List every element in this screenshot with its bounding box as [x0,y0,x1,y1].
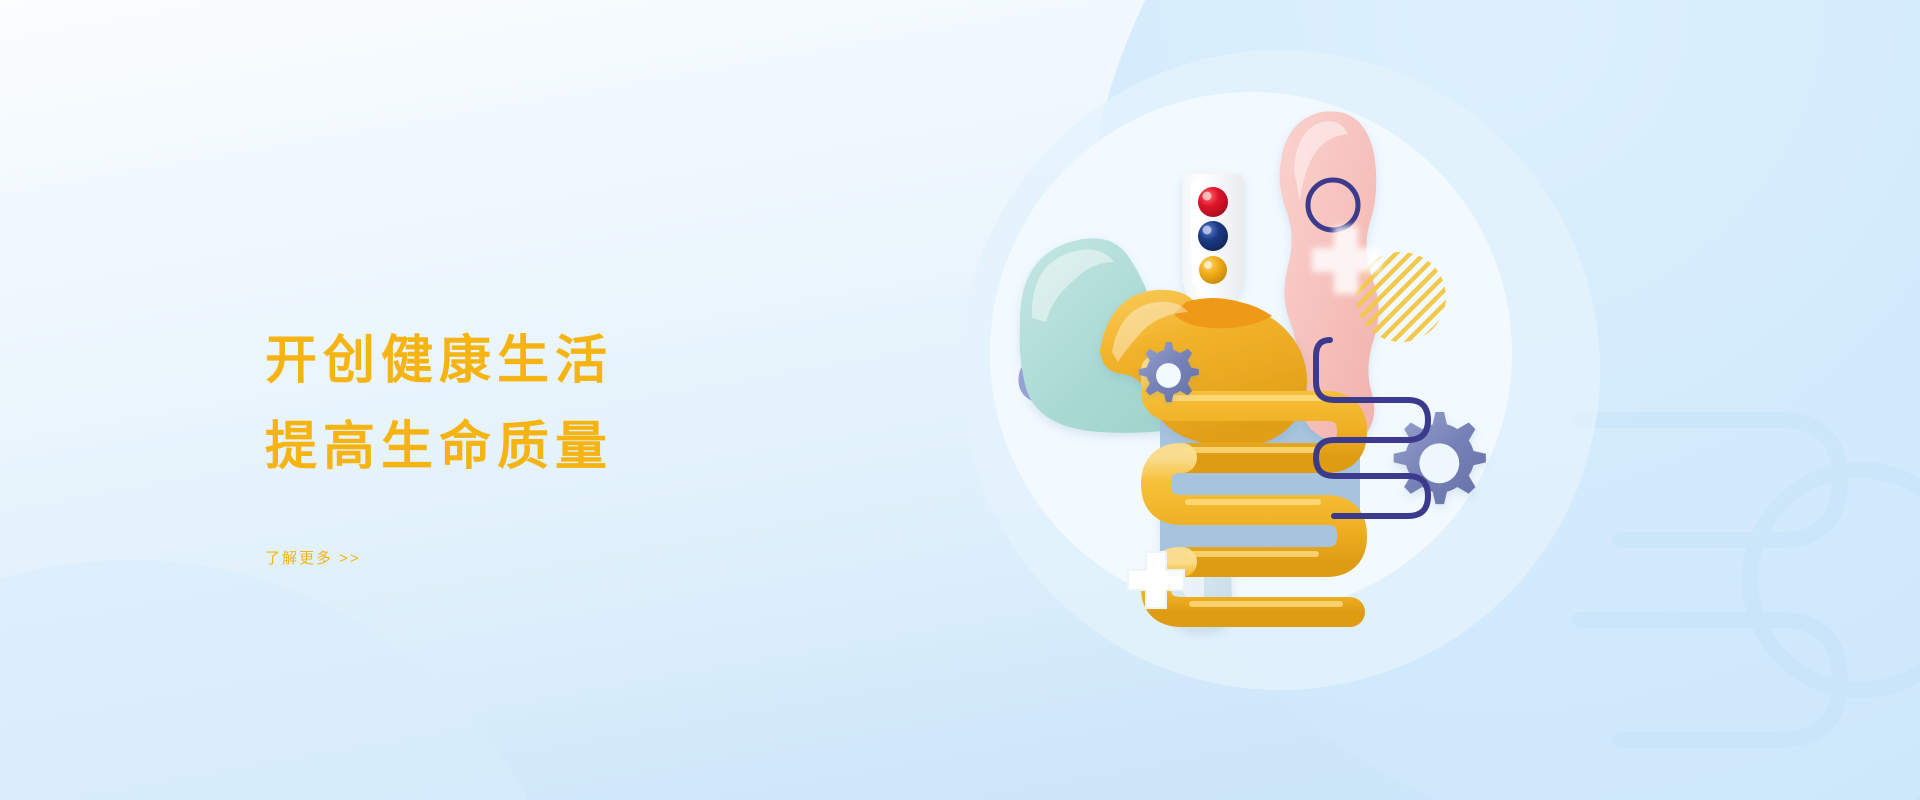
headline-line-2: 提高生命质量 [265,404,825,490]
digestive-system-illustration [960,50,1660,750]
banner-copy: 开创健康生活 提高生命质量 了解更多 >> [265,318,825,568]
gear-large [1394,412,1486,504]
gear-small [1139,342,1199,402]
dot-navy [1198,221,1228,251]
dot-red [1198,187,1228,217]
background-circle-left [0,560,580,800]
dot-amber [1199,256,1227,284]
illustration-artwork [960,50,1660,750]
learn-more-link[interactable]: 了解更多 >> [265,547,361,568]
health-banner: 开创健康生活 提高生命质量 了解更多 >> [0,0,1920,800]
page-title: 开创健康生活 提高生命质量 [265,318,825,491]
headline-line-1: 开创健康生活 [265,332,613,390]
